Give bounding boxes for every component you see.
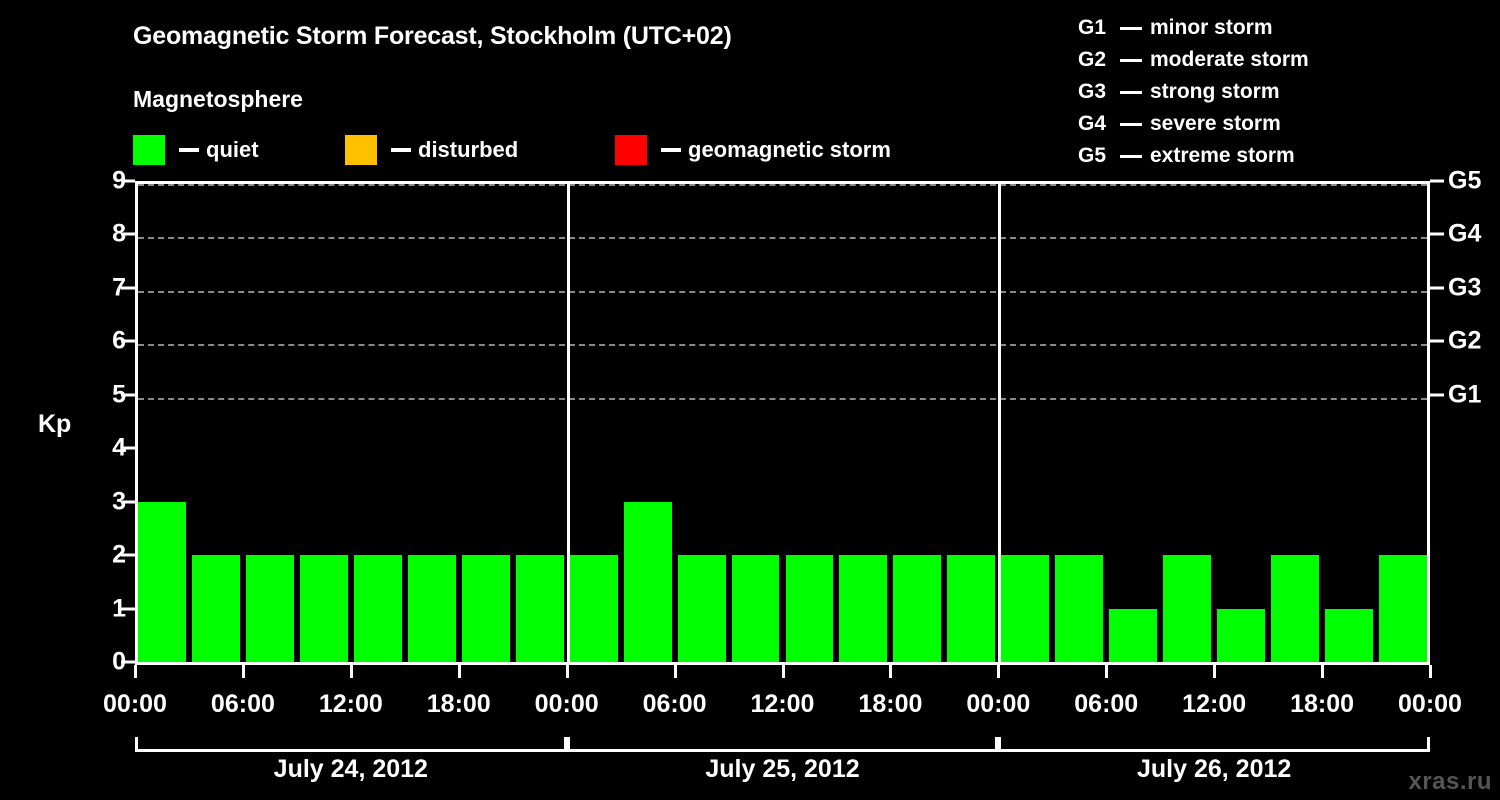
bar xyxy=(732,555,780,662)
x-tick-label-10: 12:00 xyxy=(1182,690,1246,719)
gridline-kp-5 xyxy=(138,398,1427,400)
y-tick-label-5: 5 xyxy=(86,380,126,409)
y-tick-label-1: 1 xyxy=(86,594,126,623)
x-tick-mark-5 xyxy=(674,665,677,678)
bar xyxy=(246,555,294,662)
g-scale-dash-icon xyxy=(1120,123,1142,126)
x-tick-label-4: 00:00 xyxy=(535,690,599,719)
g-scale-code: G3 xyxy=(1078,80,1112,104)
bar xyxy=(624,502,672,662)
x-tick-mark-12 xyxy=(1429,665,1432,678)
bar xyxy=(138,502,186,662)
day-label-2: July 26, 2012 xyxy=(1137,755,1291,784)
g-scale-row-g2: G2moderate storm xyxy=(1078,44,1498,76)
bar xyxy=(893,555,941,662)
y-tick-label-0: 0 xyxy=(86,648,126,677)
right-axis-line xyxy=(1427,181,1430,662)
y-tick-mark-9 xyxy=(121,180,135,183)
y-tick-label-2: 2 xyxy=(86,541,126,570)
bar xyxy=(1325,609,1373,662)
g-scale-row-g3: G3strong storm xyxy=(1078,76,1498,108)
y-tick-mark-8 xyxy=(121,233,135,236)
bar xyxy=(1055,555,1103,662)
x-tick-mark-10 xyxy=(1213,665,1216,678)
g-scale-code: G5 xyxy=(1078,144,1112,168)
g-scale-row-g5: G5extreme storm xyxy=(1078,140,1498,172)
legend-item-disturbed: disturbed xyxy=(345,134,518,166)
g-axis-label-g5: G5 xyxy=(1448,167,1481,196)
gridline-kp-7 xyxy=(138,291,1427,293)
legend-dash-icon xyxy=(179,148,199,152)
watermark: xras.ru xyxy=(1408,768,1492,796)
g-axis-label-g2: G2 xyxy=(1448,327,1481,356)
legend-item-geomagnetic-storm: geomagnetic storm xyxy=(615,134,891,166)
y-tick-mark-1 xyxy=(121,607,135,610)
x-tick-label-5: 06:00 xyxy=(643,690,707,719)
g-scale-dash-icon xyxy=(1120,91,1142,94)
bar xyxy=(462,555,510,662)
bar xyxy=(300,555,348,662)
x-tick-label-11: 18:00 xyxy=(1290,690,1354,719)
gridline-kp-8 xyxy=(138,237,1427,239)
g-scale-legend: G1minor stormG2moderate stormG3strong st… xyxy=(1078,12,1498,172)
g-scale-row-g1: G1minor storm xyxy=(1078,12,1498,44)
bar xyxy=(354,555,402,662)
g-axis-label-g1: G1 xyxy=(1448,380,1481,409)
y-tick-mark-2 xyxy=(121,554,135,557)
g-tick-mark-g5 xyxy=(1430,180,1444,183)
g-axis-label-g4: G4 xyxy=(1448,220,1481,249)
x-tick-mark-3 xyxy=(458,665,461,678)
bar xyxy=(408,555,456,662)
y-tick-mark-7 xyxy=(121,286,135,289)
bar xyxy=(570,555,618,662)
bar xyxy=(947,555,995,662)
g-scale-code: G1 xyxy=(1078,16,1112,40)
bar xyxy=(839,555,887,662)
x-tick-mark-4 xyxy=(566,665,569,678)
bar xyxy=(1001,555,1049,662)
plot-area xyxy=(138,184,1427,662)
day-divider-1 xyxy=(567,184,570,662)
legend-label-quiet: quiet xyxy=(206,137,259,163)
bar xyxy=(678,555,726,662)
x-tick-label-8: 00:00 xyxy=(966,690,1030,719)
x-tick-mark-7 xyxy=(889,665,892,678)
g-scale-description: minor storm xyxy=(1150,16,1273,40)
g-tick-mark-g3 xyxy=(1430,286,1444,289)
g-tick-mark-g1 xyxy=(1430,393,1444,396)
x-tick-mark-2 xyxy=(350,665,353,678)
legend-item-quiet: quiet xyxy=(133,134,259,166)
g-scale-description: strong storm xyxy=(1150,80,1280,104)
legend-dash-icon xyxy=(391,148,411,152)
quiet-color-swatch-icon xyxy=(133,135,165,165)
page-title: Geomagnetic Storm Forecast, Stockholm (U… xyxy=(133,22,732,51)
y-tick-label-6: 6 xyxy=(86,327,126,356)
bar xyxy=(516,555,564,662)
x-tick-mark-6 xyxy=(782,665,785,678)
x-tick-label-9: 06:00 xyxy=(1074,690,1138,719)
x-tick-label-12: 00:00 xyxy=(1398,690,1462,719)
y-tick-mark-3 xyxy=(121,500,135,503)
y-tick-label-3: 3 xyxy=(86,487,126,516)
legend-label-disturbed: disturbed xyxy=(418,137,518,163)
g-scale-description: moderate storm xyxy=(1150,48,1309,72)
bar xyxy=(1163,555,1211,662)
day-label-0: July 24, 2012 xyxy=(274,755,428,784)
g-scale-dash-icon xyxy=(1120,27,1142,30)
y-tick-label-9: 9 xyxy=(86,167,126,196)
x-tick-mark-1 xyxy=(242,665,245,678)
day-bracket-1 xyxy=(567,737,999,752)
g-tick-mark-g4 xyxy=(1430,233,1444,236)
day-divider-2 xyxy=(998,184,1001,662)
g-scale-description: severe storm xyxy=(1150,112,1281,136)
x-tick-mark-9 xyxy=(1105,665,1108,678)
gridline-kp-9 xyxy=(138,184,1427,186)
y-tick-mark-6 xyxy=(121,340,135,343)
g-axis-label-g3: G3 xyxy=(1448,273,1481,302)
g-scale-code: G2 xyxy=(1078,48,1112,72)
g-scale-code: G4 xyxy=(1078,112,1112,136)
gridline-kp-6 xyxy=(138,344,1427,346)
y-tick-label-8: 8 xyxy=(86,220,126,249)
disturbed-color-swatch-icon xyxy=(345,135,377,165)
storm-color-swatch-icon xyxy=(615,135,647,165)
x-tick-label-6: 12:00 xyxy=(751,690,815,719)
magnetosphere-section-label: Magnetosphere xyxy=(133,86,303,113)
g-scale-dash-icon xyxy=(1120,59,1142,62)
x-tick-mark-8 xyxy=(997,665,1000,678)
y-tick-mark-5 xyxy=(121,393,135,396)
x-tick-label-0: 00:00 xyxy=(103,690,167,719)
day-label-1: July 25, 2012 xyxy=(705,755,859,784)
x-tick-label-3: 18:00 xyxy=(427,690,491,719)
day-bracket-0 xyxy=(135,737,567,752)
x-tick-label-2: 12:00 xyxy=(319,690,383,719)
y-tick-mark-4 xyxy=(121,447,135,450)
bar xyxy=(1217,609,1265,662)
bar xyxy=(1109,609,1157,662)
bar xyxy=(192,555,240,662)
x-tick-mark-11 xyxy=(1321,665,1324,678)
day-bracket-2 xyxy=(998,737,1430,752)
legend-dash-icon xyxy=(661,148,681,152)
bar xyxy=(1271,555,1319,662)
y-tick-mark-0 xyxy=(121,661,135,664)
bar xyxy=(1379,555,1427,662)
x-tick-label-1: 06:00 xyxy=(211,690,275,719)
bar xyxy=(786,555,834,662)
g-tick-mark-g2 xyxy=(1430,340,1444,343)
geomagnetic-forecast-chart: Geomagnetic Storm Forecast, Stockholm (U… xyxy=(0,0,1500,800)
g-scale-row-g4: G4severe storm xyxy=(1078,108,1498,140)
g-scale-dash-icon xyxy=(1120,155,1142,158)
y-tick-label-7: 7 xyxy=(86,273,126,302)
x-tick-mark-0 xyxy=(134,665,137,678)
plot-frame xyxy=(135,181,1430,662)
y-tick-label-4: 4 xyxy=(86,434,126,463)
x-tick-label-7: 18:00 xyxy=(858,690,922,719)
y-axis-title: Kp xyxy=(38,410,71,439)
legend-label-geomagnetic-storm: geomagnetic storm xyxy=(688,137,891,163)
g-scale-description: extreme storm xyxy=(1150,144,1295,168)
